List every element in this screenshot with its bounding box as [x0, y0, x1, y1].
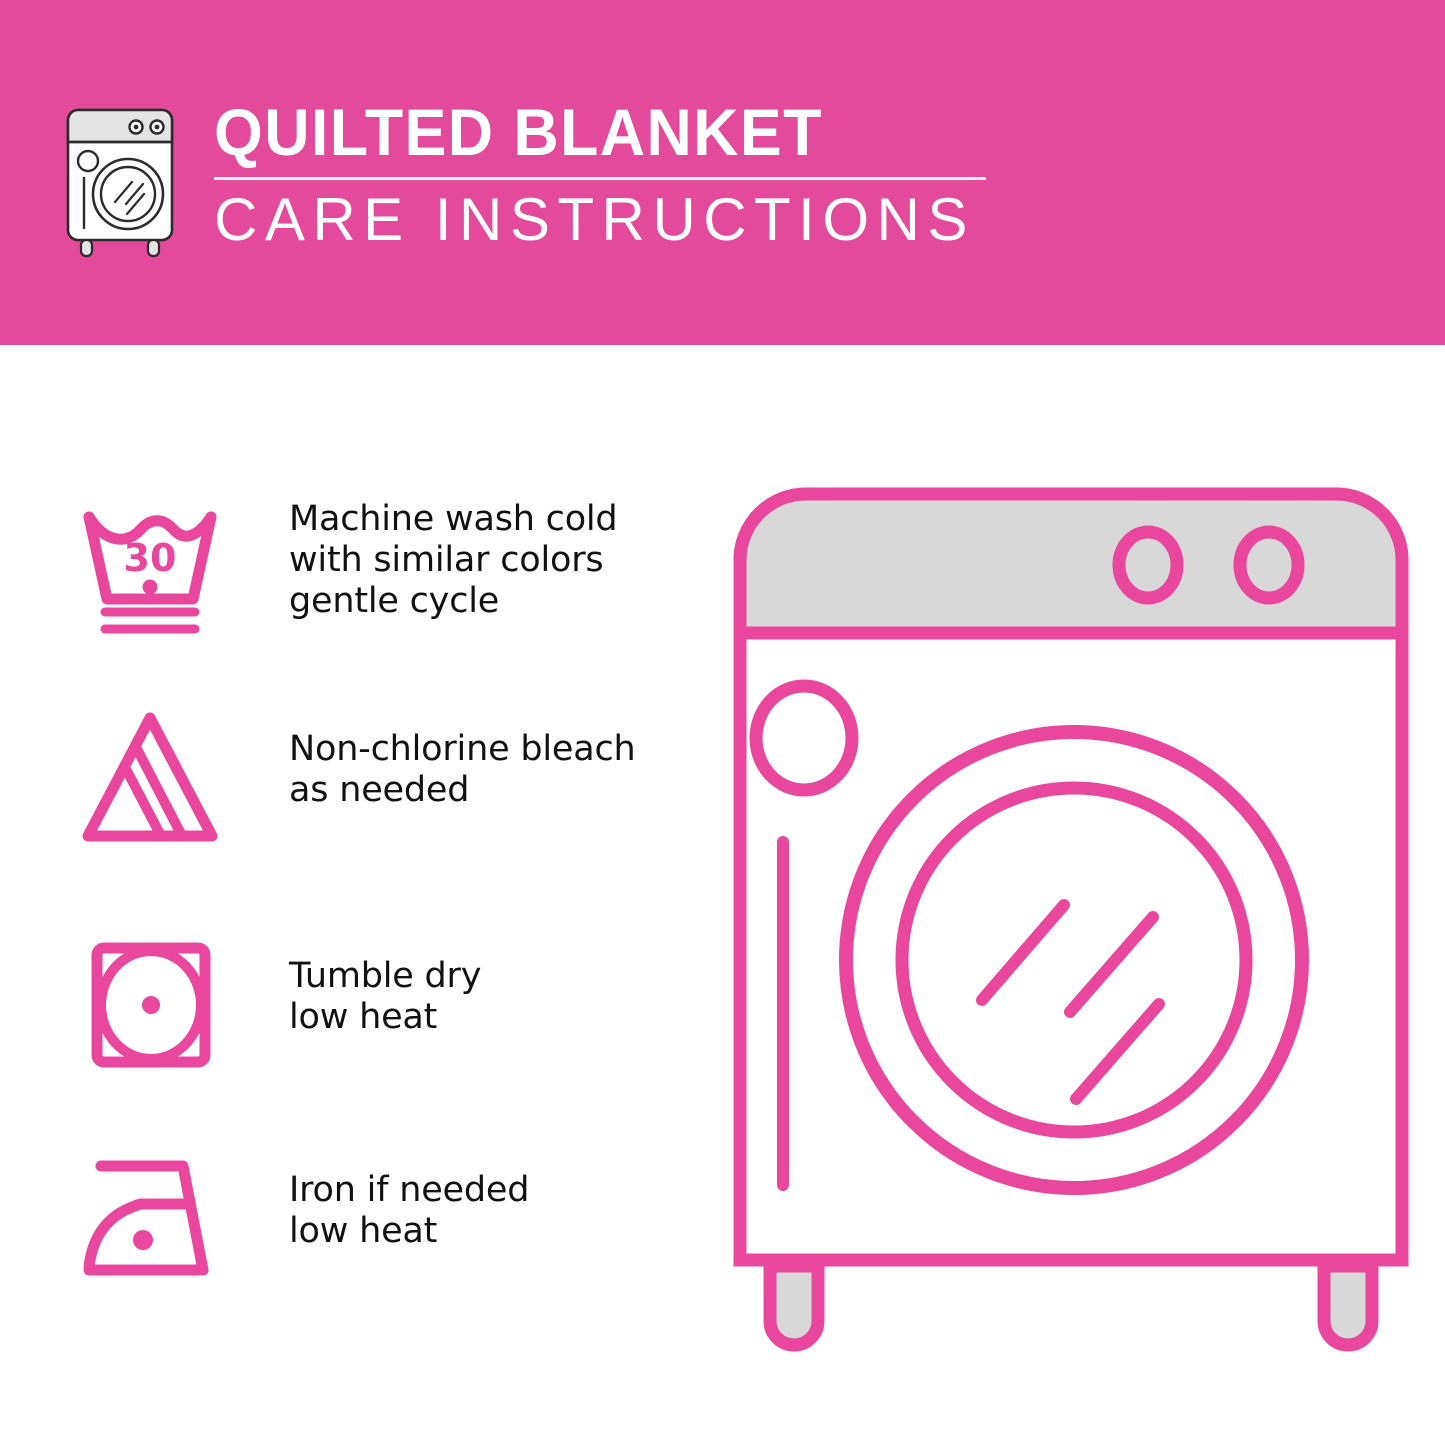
- care-line: low heat: [289, 1211, 529, 1252]
- header-band: QUILTED BLANKET CARE INSTRUCTIONS: [0, 0, 1445, 345]
- care-line: as needed: [289, 770, 635, 811]
- care-text-tumble-dry: Tumble dry low heat: [289, 930, 481, 1038]
- care-instruction-list: 30 Machine wash cold with similar colors…: [0, 345, 700, 1445]
- machine-leg: [770, 1266, 818, 1345]
- care-line: gentle cycle: [289, 581, 617, 622]
- dispenser-icon: [756, 686, 852, 790]
- wash-temperature-label: 30: [123, 536, 176, 580]
- care-row-bleach: Non-chlorine bleach as needed: [62, 703, 682, 853]
- knob-icon: [1240, 532, 1298, 598]
- care-row-machine-wash: 30 Machine wash cold with similar colors…: [62, 495, 682, 645]
- care-text-iron: Iron if needed low heat: [289, 1142, 529, 1252]
- page-subtitle: CARE INSTRUCTIONS: [214, 186, 986, 254]
- care-instructions-infographic: QUILTED BLANKET CARE INSTRUCTIONS 30: [0, 0, 1445, 1445]
- page-title: QUILTED BLANKET: [214, 96, 947, 168]
- care-line: with similar colors: [289, 540, 617, 581]
- care-text-machine-wash: Machine wash cold with similar colors ge…: [289, 495, 617, 622]
- drum-inner-ring: [902, 788, 1246, 1132]
- knob-icon: [1119, 532, 1177, 598]
- washing-machine-icon: [58, 102, 188, 262]
- header-titles: QUILTED BLANKET CARE INSTRUCTIONS: [214, 96, 986, 254]
- title-divider: [214, 177, 986, 180]
- care-text-bleach: Non-chlorine bleach as needed: [289, 703, 635, 811]
- care-row-iron: Iron if needed low heat: [62, 1142, 682, 1292]
- care-line: Tumble dry: [289, 956, 481, 997]
- care-line: Non-chlorine bleach: [289, 729, 635, 770]
- care-row-tumble-dry: Tumble dry low heat: [62, 930, 682, 1080]
- care-line: Machine wash cold: [289, 499, 617, 540]
- care-line: Iron if needed: [289, 1170, 529, 1211]
- care-line: low heat: [289, 997, 481, 1038]
- machine-leg: [1324, 1266, 1372, 1345]
- large-washing-machine-illustration: [726, 480, 1416, 1370]
- header-content: QUILTED BLANKET CARE INSTRUCTIONS: [58, 96, 1008, 271]
- tumble-dry-icon: [62, 930, 237, 1080]
- bleach-triangle-icon: [62, 703, 237, 853]
- wash-tub-icon: 30: [62, 495, 237, 645]
- iron-icon: [62, 1142, 237, 1292]
